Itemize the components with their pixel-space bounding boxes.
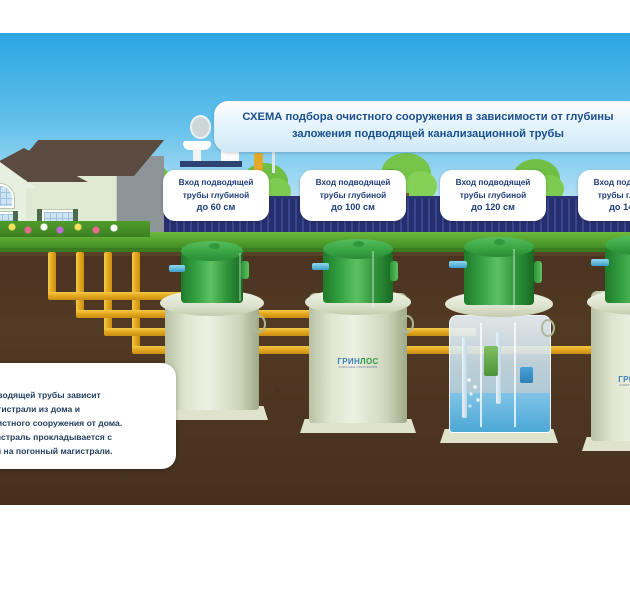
callout-line1: Вход подводящей: [587, 176, 630, 189]
tank-side-handle: [541, 319, 555, 337]
infographic-canvas: ГРИНЛОС ОЧИСТНЫЕ СООРУЖЕНИЯ: [0, 0, 630, 600]
house: [0, 118, 151, 238]
callout-line2: трубы глубиной: [449, 189, 537, 202]
callout-depth-value: до 120 см: [449, 201, 537, 215]
callout-depth-100: Вход подводящей трубы глубиной до 100 см: [300, 170, 406, 221]
flower-bed: [0, 221, 150, 237]
tank-neck-seam: [513, 249, 515, 309]
tank-vent: [241, 261, 249, 279]
callout-depth-value: до 60 см: [172, 201, 260, 215]
tank-vent: [390, 261, 398, 281]
note-text: Глубина подводящей трубы зависит от длин…: [0, 389, 164, 459]
pipe-drop-2: [76, 252, 84, 314]
tank-inner-wall: [514, 323, 516, 427]
note-line-2: от длины магистрали из дома и: [0, 403, 164, 417]
tank-inlet-pipe: [169, 265, 185, 272]
note-line-1: Глубина подводящей трубы зависит: [0, 389, 164, 403]
tank-side-handle: [252, 315, 266, 333]
tank-lid-handle: [209, 243, 220, 249]
callout-line2: трубы глубиной: [309, 189, 397, 202]
tank-vent: [534, 261, 542, 283]
callout-depth-140: Вход подводящей трубы глубиной до 140 см: [578, 170, 630, 221]
callout-depth-value: до 140 см: [587, 201, 630, 215]
callout-depth-60: Вход подводящей трубы глубиной до 60 см: [163, 170, 269, 221]
tank-logo-subtitle: ОЧИСТНЫЕ СООРУЖЕНИЯ: [601, 384, 630, 387]
tank-logo-subtitle: ОЧИСТНЫЕ СООРУЖЕНИЯ: [321, 366, 395, 369]
note-brand: ГРИНЛОС: [0, 372, 164, 384]
bathroom-mirror-icon: [190, 115, 211, 139]
tank-pump-unit: [520, 367, 533, 383]
callout-line2: трубы глубиной: [172, 189, 260, 202]
callout-depth-value: до 100 см: [309, 201, 397, 215]
tank-neck-seam: [372, 251, 374, 307]
note-line-3: удаления очистного сооружения от дома.: [0, 417, 164, 431]
tank-side-handle: [400, 315, 414, 333]
bathroom-floor: [180, 161, 242, 167]
scheme-title-line2: заложения подводящей канализационной тру…: [228, 126, 628, 143]
tank-cutaway-view: [449, 315, 550, 433]
callout-line1: Вход подводящей: [309, 176, 397, 189]
tank-inlet-pipe: [449, 261, 467, 268]
treatment-unit-3[interactable]: [440, 231, 558, 443]
tank-logo-blue: ЛОС: [360, 357, 379, 366]
callout-line2: трубы глубиной: [587, 189, 630, 202]
tank-media-block: [484, 346, 498, 376]
scene: ГРИНЛОС ОЧИСТНЫЕ СООРУЖЕНИЯ: [0, 33, 630, 505]
callout-line1: Вход подводящей: [172, 176, 260, 189]
tank-aeration-bubbles: [466, 376, 484, 412]
tank-logo: ГРИНЛОС ОЧИСТНЫЕ СООРУЖЕНИЯ: [321, 357, 395, 369]
tank-inlet-pipe: [591, 259, 609, 266]
note-line-4: Обычно магистраль прокладывается с: [0, 431, 164, 445]
callout-depth-120: Вход подводящей трубы глубиной до 120 см: [440, 170, 546, 221]
pipe-drop-1: [48, 252, 56, 296]
note-line-5: уклоном 2 см на погонный магистрали.: [0, 445, 164, 459]
treatment-unit-4[interactable]: ГРИНЛОС ОЧИСТНЫЕ СООРУЖЕНИЯ: [582, 229, 630, 451]
tank-logo-green: ГРИН: [618, 375, 630, 384]
window-grid: [0, 186, 12, 206]
treatment-unit-2[interactable]: ГРИНЛОС ОЧИСТНЫЕ СООРУЖЕНИЯ: [300, 233, 416, 433]
tank-inlet-pipe: [312, 263, 329, 270]
tank-logo: ГРИНЛОС ОЧИСТНЫЕ СООРУЖЕНИЯ: [601, 375, 630, 387]
utility-box-icon: [254, 153, 263, 171]
tank-logo-green: ГРИН: [337, 357, 360, 366]
note-callout: ГРИНЛОС Глубина подводящей трубы зависит…: [0, 363, 176, 469]
scheme-title: СХЕМА подбора очистного сооружения в зав…: [214, 101, 630, 152]
scheme-title-line1: СХЕМА подбора очистного сооружения в зав…: [228, 109, 628, 126]
callout-line1: Вход подводящей: [449, 176, 537, 189]
